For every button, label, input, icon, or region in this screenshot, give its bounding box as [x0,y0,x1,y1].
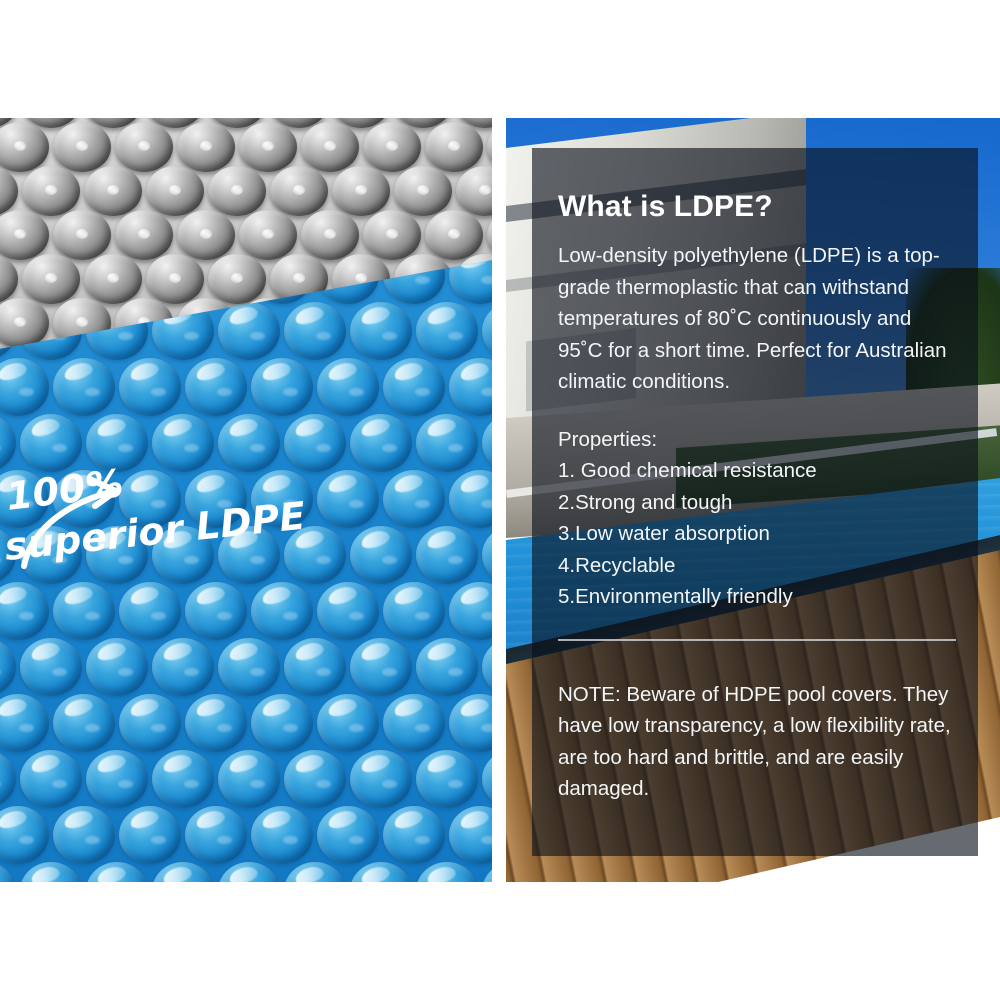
bubble-cell [383,470,445,528]
bubble-cell [0,414,16,472]
bubble-cell [0,862,16,882]
bubble-cell [119,358,181,416]
bubble-cell [251,806,313,864]
bubble-cell [317,806,379,864]
bubble-cell [22,254,80,304]
bubble-cell [350,414,412,472]
bubble-cell [482,302,492,360]
bubble-cell [270,166,328,216]
bubble-cell [416,302,478,360]
bubble-cell [84,166,142,216]
bubble-cell [449,358,492,416]
bubble-cell [239,122,297,172]
bubble-cell [53,122,111,172]
bubble-cell [86,750,148,808]
bubble-cell [208,254,266,304]
bubble-cell [317,582,379,640]
bubble-cell [218,862,280,882]
bubble-cell [218,414,280,472]
bubble-cell [383,582,445,640]
bubble-cell [185,694,247,752]
bubble-cell [185,470,247,528]
bubble-cell [383,358,445,416]
bubble-cell [218,750,280,808]
bubble-cell [115,210,173,260]
bubble-cell [146,166,204,216]
bubble-cell [251,694,313,752]
bubble-cell [317,358,379,416]
bubble-cell [317,694,379,752]
bubble-cell [350,750,412,808]
list-item: 2.Strong and tough [558,487,958,519]
bubble-cell [152,526,214,584]
bubble-cell [53,694,115,752]
bubble-cell [0,298,49,348]
bubble-cell [152,862,214,882]
bubble-cell [449,694,492,752]
bubble-cell [317,470,379,528]
bubble-cell [239,210,297,260]
bubble-cell [449,806,492,864]
bubble-cell [482,862,492,882]
bubble-cell [20,750,82,808]
bubble-cell [363,210,421,260]
bubble-cell [86,526,148,584]
card-paragraph: Low-density polyethylene (LDPE) is a top… [558,240,950,398]
bubble-cell [115,122,173,172]
bubble-cell [53,806,115,864]
note-paragraph: NOTE: Beware of HDPE pool covers. They h… [558,679,958,805]
bubble-cell [487,210,492,260]
bubble-cell [383,694,445,752]
bubble-cell [456,166,492,216]
bubble-cell [284,750,346,808]
bubble-cell [251,358,313,416]
properties-list: 1. Good chemical resistance 2.Strong and… [558,455,958,613]
bubble-cell [185,582,247,640]
bubble-cell [0,166,18,216]
bubble-cell [284,638,346,696]
bubble-cell [152,638,214,696]
card-heading: What is LDPE? [558,148,958,224]
bubble-cell [301,122,359,172]
bubble-cell [119,806,181,864]
bubble-cell [416,638,478,696]
bubble-cell [251,470,313,528]
bubble-cell [350,302,412,360]
bubble-cell [251,582,313,640]
bubble-cell [208,166,266,216]
bubble-cell [20,526,82,584]
bubble-cell [0,526,16,584]
left-product-photo: 100% superior LDPE [0,118,492,882]
section-divider [558,639,956,641]
bubble-cell [301,210,359,260]
bubble-cell [185,358,247,416]
list-item: 4.Recyclable [558,550,958,582]
bubble-cell [0,638,16,696]
bubble-cell [0,358,49,416]
bubble-cell [0,750,16,808]
bubble-cell [0,210,49,260]
bubble-cell [0,470,49,528]
bubble-cell [487,122,492,172]
bubble-cell [0,582,49,640]
bubble-cell [350,862,412,882]
bubble-cell [218,638,280,696]
bubble-cell [84,254,142,304]
bubble-cell [119,582,181,640]
bubble-cell [119,470,181,528]
bubble-cell [482,414,492,472]
bubble-cell [416,414,478,472]
bubble-cell [177,210,235,260]
bubble-cell [383,806,445,864]
bubble-cell [177,122,235,172]
bubble-cell [416,526,478,584]
bubble-cell [449,470,492,528]
bubble-cell [185,806,247,864]
bubble-cell [119,694,181,752]
bubble-cell [20,862,82,882]
properties-label: Properties: [558,424,958,456]
bubble-cell [363,122,421,172]
bubble-cell [284,302,346,360]
bubble-cell [20,638,82,696]
bubble-cell [0,694,49,752]
bubble-cell [86,862,148,882]
list-item: 1. Good chemical resistance [558,455,958,487]
bubble-cell [20,414,82,472]
bubble-cell [218,302,280,360]
list-item: 3.Low water absorption [558,518,958,550]
bubble-cell [53,210,111,260]
bubble-cell [482,750,492,808]
bubble-cell [416,862,478,882]
bubble-cell [152,414,214,472]
bubble-cell [218,526,280,584]
list-item: 5.Environmentally friendly [558,581,958,613]
bubble-cell [53,358,115,416]
bubble-cell [0,254,18,304]
ldpe-info-card-content: What is LDPE? Low-density polyethylene (… [558,148,958,856]
bubble-cell [146,254,204,304]
bubble-cell [86,638,148,696]
bubble-cell [482,526,492,584]
bubble-cell [284,862,346,882]
bubble-cell [53,470,115,528]
bubble-cell [482,638,492,696]
bubble-cell [284,526,346,584]
bubble-cell [284,414,346,472]
bubble-cell [152,750,214,808]
bubble-cell [416,750,478,808]
bubble-cell [350,526,412,584]
bubble-cell [425,122,483,172]
bubble-cell [449,582,492,640]
bubble-cell [0,806,49,864]
bubble-cell [350,638,412,696]
bubble-cell [22,166,80,216]
bubble-cell [425,210,483,260]
bubble-cell [86,414,148,472]
bubble-cell [53,582,115,640]
bubble-cell [332,166,390,216]
bubble-cell [0,122,49,172]
product-infographic: 100% superior LDPE What is LDPE? Low-den… [0,0,1000,1000]
bubble-cell [394,166,452,216]
